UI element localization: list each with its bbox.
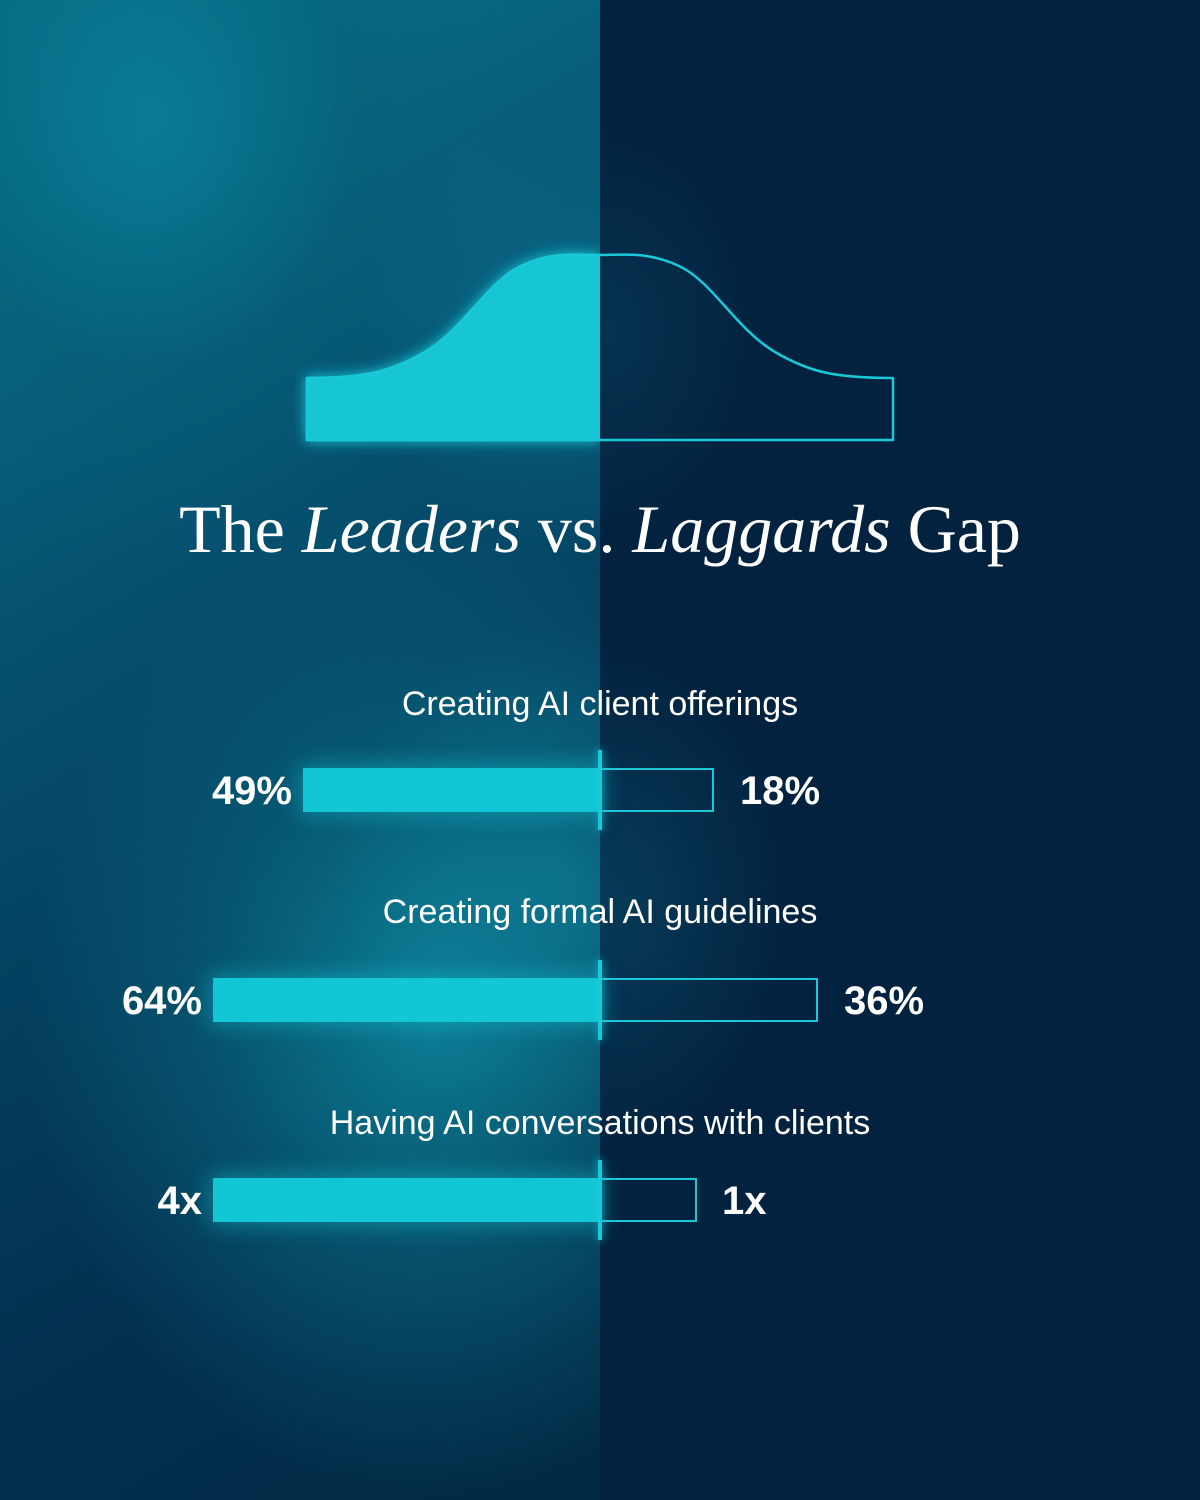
leaders-value-label: 4x [20, 1181, 202, 1221]
laggards-bar [600, 978, 818, 1022]
infographic-canvas: The Leaders vs. Laggards Gap Creating AI… [0, 0, 1200, 1500]
leaders-value-label: 49% [110, 771, 292, 811]
leaders-bar [213, 978, 600, 1022]
leaders-value-label: 64% [20, 981, 202, 1021]
center-axis-tick [598, 750, 602, 830]
title-segment-the: The [179, 491, 302, 567]
bell-curve-svg [295, 240, 905, 455]
leaders-bar [213, 1178, 600, 1222]
title-segment-laggards: Laggards [632, 491, 890, 567]
background-right-glow [600, 0, 1200, 1500]
bell-curve-filled-half [307, 255, 600, 440]
leaders-bar [303, 768, 600, 812]
metric-row-label: Creating formal AI guidelines [0, 893, 1200, 932]
background-left-glow [0, 0, 600, 1500]
laggards-bar [600, 768, 714, 812]
title-segment-gap: Gap [891, 491, 1021, 567]
page-title: The Leaders vs. Laggards Gap [0, 495, 1200, 563]
center-axis-tick [598, 960, 602, 1040]
title-segment-vs: vs. [521, 491, 632, 567]
metric-row-label: Having AI conversations with clients [0, 1104, 1200, 1143]
laggards-value-label: 36% [844, 981, 1044, 1021]
bell-curve-split-graphic [295, 240, 905, 455]
laggards-value-label: 18% [740, 771, 940, 811]
title-segment-leaders: Leaders [302, 491, 521, 567]
metric-row-label: Creating AI client offerings [0, 685, 1200, 724]
center-axis-tick [598, 1160, 602, 1240]
laggards-value-label: 1x [722, 1181, 922, 1221]
laggards-bar [600, 1178, 697, 1222]
